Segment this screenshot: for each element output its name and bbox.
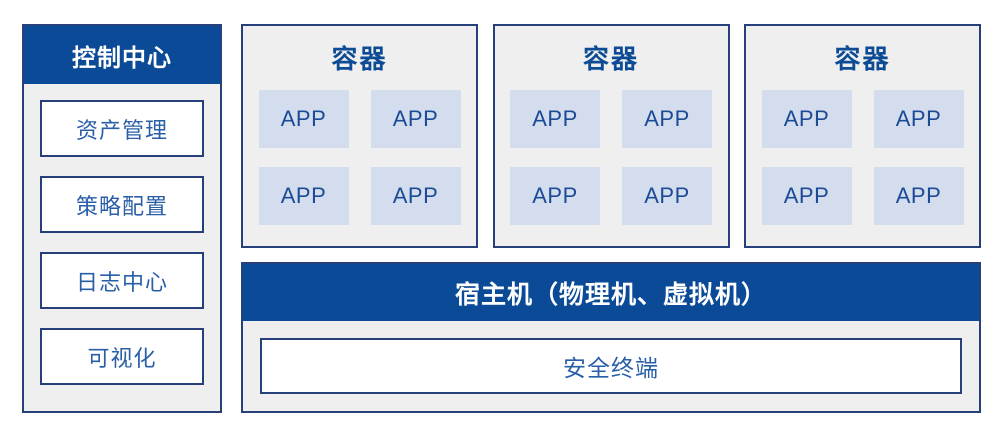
app-grid: APP APP APP APP <box>510 90 712 225</box>
app-box: APP <box>762 90 852 148</box>
container-title: 容器 <box>331 39 387 76</box>
control-item-log-center[interactable]: 日志中心 <box>40 252 204 309</box>
app-box: APP <box>874 167 964 225</box>
container-box: 容器 APP APP APP APP <box>744 24 981 248</box>
app-box: APP <box>874 90 964 148</box>
host-panel-body: 安全终端 <box>243 321 979 394</box>
architecture-diagram: 控制中心 资产管理 策略配置 日志中心 可视化 容器 APP APP APP A… <box>0 0 1001 437</box>
containers-row: 容器 APP APP APP APP 容器 APP APP APP APP 容器… <box>241 24 981 248</box>
control-item-visualization[interactable]: 可视化 <box>40 328 204 385</box>
host-panel-header: 宿主机（物理机、虚拟机） <box>243 264 979 321</box>
container-title: 容器 <box>834 39 890 76</box>
control-item-policy-configuration[interactable]: 策略配置 <box>40 176 204 233</box>
app-box: APP <box>622 167 712 225</box>
app-grid: APP APP APP APP <box>762 90 964 225</box>
control-center-header: 控制中心 <box>24 26 220 84</box>
container-box: 容器 APP APP APP APP <box>493 24 730 248</box>
control-center-item-list: 资产管理 策略配置 日志中心 可视化 <box>24 84 220 385</box>
app-box: APP <box>259 90 349 148</box>
control-center-panel: 控制中心 资产管理 策略配置 日志中心 可视化 <box>22 24 222 413</box>
app-box: APP <box>622 90 712 148</box>
app-box: APP <box>259 167 349 225</box>
app-box: APP <box>371 90 461 148</box>
secure-terminal-box: 安全终端 <box>260 338 962 394</box>
app-grid: APP APP APP APP <box>259 90 461 225</box>
control-item-asset-management[interactable]: 资产管理 <box>40 100 204 157</box>
container-title: 容器 <box>583 39 639 76</box>
host-panel: 宿主机（物理机、虚拟机） 安全终端 <box>241 262 981 413</box>
app-box: APP <box>762 167 852 225</box>
container-box: 容器 APP APP APP APP <box>241 24 478 248</box>
app-box: APP <box>510 167 600 225</box>
app-box: APP <box>371 167 461 225</box>
app-box: APP <box>510 90 600 148</box>
